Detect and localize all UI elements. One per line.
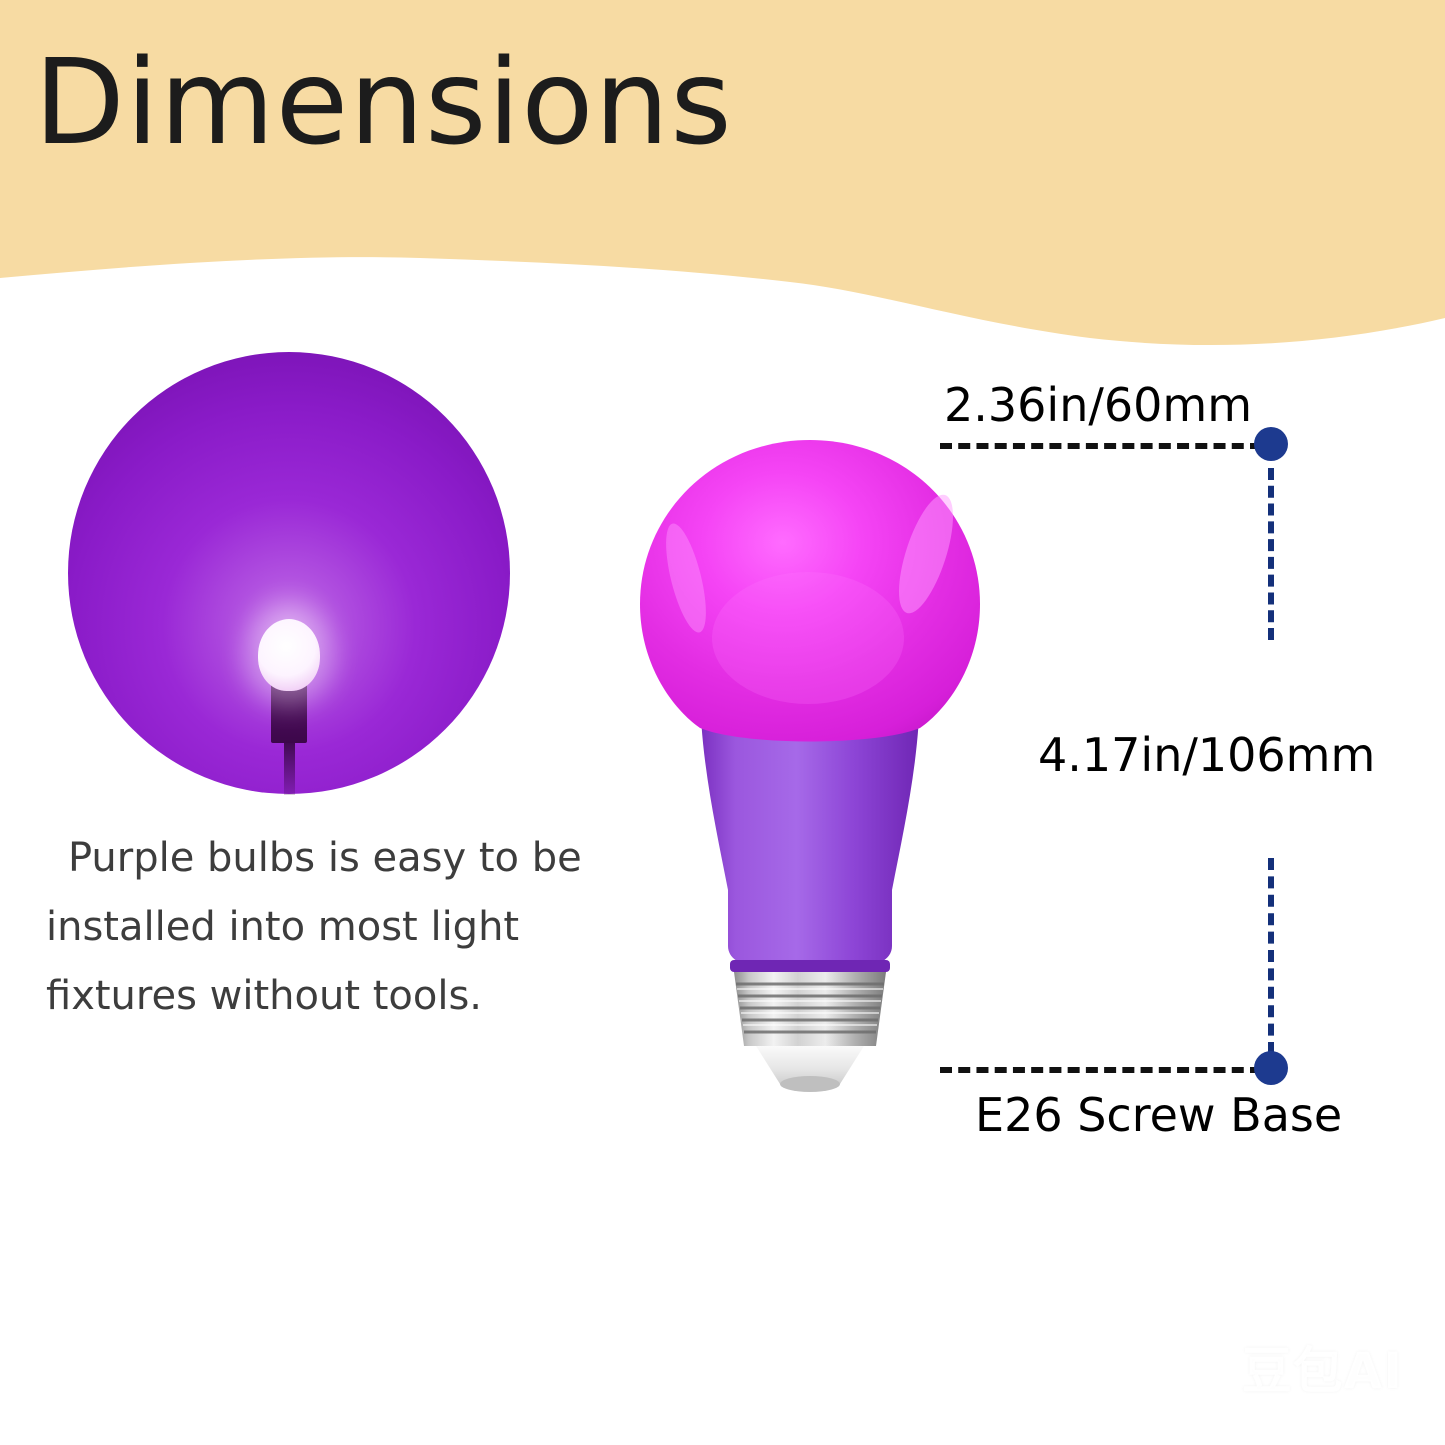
base-dimension-dot [1254,1051,1288,1085]
dimensions-infographic: Dimensions Purple bulbs is easy to be in… [0,0,1445,1445]
caption-text: Purple bulbs is easy to be installed int… [46,824,666,1030]
purple-led-bulb-image [608,428,1012,1098]
base-dimension-label: E26 Screw Base [975,1088,1342,1142]
height-dimension-dashed-line-lower [1268,858,1274,1054]
purple-glow-disc [68,352,510,794]
caption-line-2: installed into most light [46,893,666,962]
lit-bulb-icon [258,619,320,691]
page-title: Dimensions [34,36,733,168]
base-dimension-dashed-line [940,1067,1262,1073]
width-dimension-dashed-line [940,443,1262,449]
caption-line-1: Purple bulbs is easy to be [46,824,666,893]
caption-line-3: fixtures without tools. [46,962,666,1031]
width-dimension-label: 2.36in/60mm [944,378,1252,432]
height-dimension-dashed-line-upper [1268,468,1274,640]
height-dimension-label: 4.17in/106mm [1038,728,1375,782]
width-dimension-dot [1254,427,1288,461]
watermark: 豆包AI [1242,1331,1403,1403]
